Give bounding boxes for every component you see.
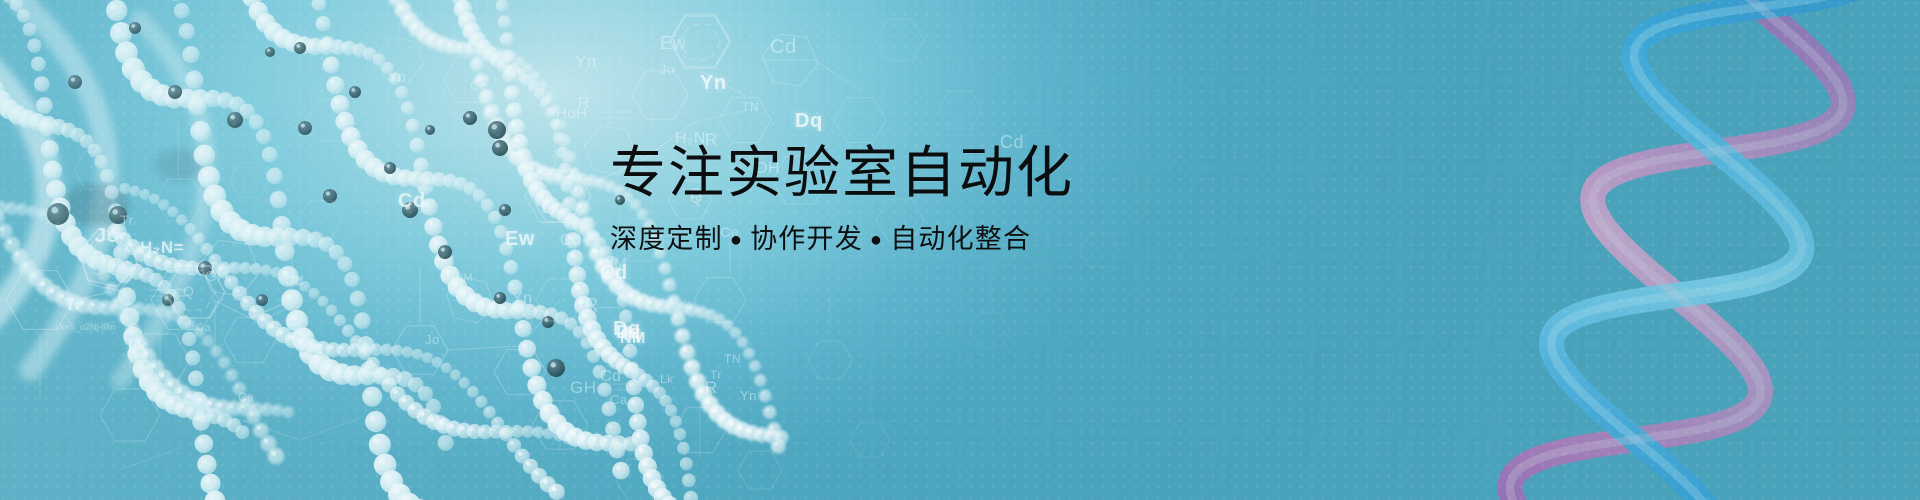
beaded-strand (0, 146, 284, 465)
helix-strand (1479, 0, 1896, 500)
beaded-strand (302, 0, 638, 452)
hexagon-ring (670, 16, 730, 68)
chem-label: TN (724, 352, 741, 366)
chem-label: H₂N= (140, 238, 184, 258)
hexagon-ring (616, 459, 664, 500)
chem-label: Ca (238, 390, 254, 404)
chem-label: GH (570, 378, 597, 398)
hexagon-ring (762, 34, 817, 86)
helix-rung (1634, 54, 1840, 113)
chem-label: R (578, 95, 590, 113)
hexagon-ring (79, 230, 138, 287)
helix-strand (1479, 0, 1896, 500)
chem-label: Lk (660, 372, 674, 386)
chem-label: Ca (196, 322, 211, 334)
helix-strand (1479, 0, 1896, 500)
bond-line (700, 70, 745, 96)
chem-label: Jo (660, 62, 675, 77)
bond-line (140, 262, 172, 272)
hexagon-ring (81, 234, 140, 291)
chem-label: Tr (710, 368, 722, 382)
chem-label: Ca (610, 392, 628, 407)
chem-label: Q (183, 283, 194, 299)
chem-label: Lk (128, 338, 147, 355)
banner-headline: 专注实验室自动化 (610, 140, 1290, 206)
hexagon-ring (156, 179, 204, 221)
helix-rung-group (1483, 0, 1891, 500)
beaded-strand (100, 0, 430, 500)
hexagon-ring (447, 277, 494, 323)
chem-label: GH (205, 268, 229, 285)
chem-label: Dq (616, 322, 641, 343)
helix-rung (1588, 312, 1742, 356)
chem-label: Tr (120, 212, 134, 228)
beaded-strand (119, 183, 565, 500)
chem-label: NM (603, 255, 627, 272)
hexagon-ring (834, 98, 886, 143)
helix-rung (1512, 479, 1719, 500)
hero-banner: YnEwCdJoHoHYnTNRDqRCdH₂NOHCdQLkCdJoTrH₂N… (0, 0, 1920, 500)
chem-label: Ew (505, 228, 535, 251)
subtitle-part-3: 自动化整合 (890, 224, 1031, 254)
helix-rung (1556, 330, 1760, 388)
chem-label: Cd (285, 272, 304, 288)
helix-rung (1537, 459, 1707, 500)
beaded-strand (107, 223, 574, 444)
hexagon-ring (876, 19, 924, 61)
chem-label: Yn (575, 52, 597, 72)
helix-strand (1479, 0, 1896, 500)
chem-label: Dq (795, 110, 823, 133)
chem-label: R (585, 295, 599, 316)
bond-line (250, 300, 292, 318)
chem-label: Yn (512, 290, 533, 308)
subtitle-part-1: 深度定制 (610, 224, 723, 254)
helix-rung (1694, 17, 1809, 50)
hexagon-ring (584, 308, 636, 353)
helix-rung (1654, 276, 1706, 291)
banner-subtitle: 深度定制●协作开发●自动化整合 (610, 222, 1290, 257)
chem-label: Yn (388, 68, 406, 84)
bond-line (74, 292, 110, 300)
chem-label: Yn (740, 388, 757, 403)
hexagon-ring (494, 350, 546, 395)
helix-rung (1603, 180, 1800, 237)
hexagon-ring (525, 170, 585, 222)
helix-rung (1643, 300, 1703, 317)
helix-rung (1650, 32, 1838, 86)
chem-label: Yn (700, 72, 727, 95)
subtitle-separator-1: ● (723, 229, 750, 251)
hexagon-ring (970, 313, 1010, 348)
bond-line (252, 306, 294, 324)
hexagon-ring (694, 278, 746, 323)
helix-rung (1588, 447, 1672, 471)
chem-label: Dq (613, 318, 641, 341)
chem-label: Cd (600, 368, 621, 386)
hexagon-ring (670, 14, 730, 66)
chem-label: NM (620, 330, 646, 348)
chem-label: Cd (560, 232, 581, 250)
hexagon-ring (531, 170, 591, 222)
hexagon-ring (151, 271, 219, 330)
hexagon-ring (224, 318, 276, 363)
hexagon-ring (298, 201, 342, 239)
chem-label: Ew (660, 33, 686, 54)
bond-line (120, 448, 180, 470)
bond-line (235, 418, 300, 440)
hexagon-ring (532, 401, 588, 449)
hexagon-ring (444, 58, 496, 103)
helix-rung (1624, 430, 1650, 437)
bond-line (300, 418, 360, 440)
beaded-strand (0, 0, 249, 439)
hexagon-ring (74, 151, 118, 189)
hexagon-ring (938, 91, 982, 129)
hexagon-ring (808, 341, 852, 379)
hexagon-ring (536, 279, 584, 321)
beaded-strand (0, 0, 225, 500)
hexagon-ring (306, 99, 354, 141)
hexagon-ring (165, 266, 225, 318)
chem-label: A (685, 300, 693, 312)
hexagon-ring (100, 389, 160, 441)
subtitle-separator-2: ● (863, 229, 890, 251)
beaded-strand (0, 199, 295, 419)
bond-line (580, 330, 618, 356)
bond-line (815, 60, 860, 90)
helix-rung (1641, 164, 1777, 203)
hexagon-ring (376, 37, 423, 82)
helix-rung (1685, 123, 1761, 145)
chem-label: HoH (556, 105, 588, 122)
chem-label: Tr (65, 295, 82, 315)
chem-label: Cd (600, 262, 628, 285)
chem-label: Cd (770, 36, 797, 59)
bond-line (520, 300, 560, 346)
chem-label: TN (742, 100, 759, 114)
chem-label: Jo (425, 332, 440, 347)
hexagon-ring (850, 423, 890, 458)
bond-line (214, 300, 250, 318)
beaded-strand (232, 0, 629, 479)
hexagon-ring (200, 240, 259, 296)
beaded-strand (100, 0, 453, 451)
helix-rung (1593, 205, 1795, 263)
hexagon-ring (230, 163, 270, 198)
hexagon-ring (6, 271, 74, 330)
helix-rung (1647, 85, 1812, 132)
helix-rung (1554, 356, 1749, 412)
bond-line (446, 346, 520, 350)
hexagon-ring (719, 98, 771, 143)
hexagon-ring (130, 334, 190, 386)
chem-label: Jo (95, 225, 119, 248)
hexagon-ring (674, 408, 726, 453)
chem-label: R (705, 378, 718, 398)
helix-rung (1698, 154, 1733, 164)
hexagon-ring (392, 326, 448, 374)
banner-copy: 专注实验室自动化 深度定制●协作开发●自动化整合 (610, 140, 1290, 257)
chem-label: Cd (398, 190, 426, 213)
hexagon-ring (738, 451, 782, 489)
chem-label: Ce (470, 78, 488, 93)
chem-label: Lk (542, 200, 559, 217)
subtitle-part-2: 协作开发 (750, 224, 863, 254)
chem-label: NM (455, 272, 473, 284)
chem-label: Lk+5_o2Nj-tRn (55, 322, 115, 332)
hexagon-ring (632, 71, 688, 119)
helix-rung (1580, 390, 1709, 427)
bond-line (250, 300, 292, 318)
bond-line (694, 110, 748, 122)
helix-rung (1613, 238, 1761, 281)
